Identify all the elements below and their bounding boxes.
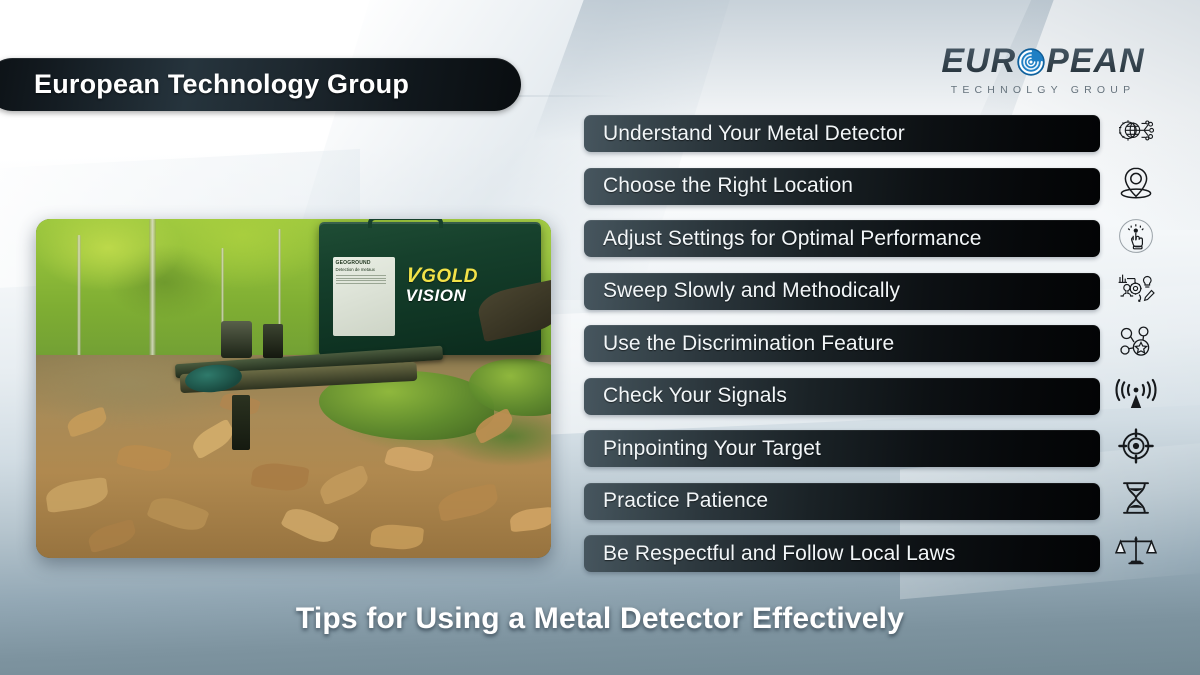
photo-case-handle	[368, 219, 443, 228]
photo-case-label-title: GEOGROUND	[336, 260, 392, 268]
slide-canvas: European Technology Group EUR PEAN TECHN…	[0, 0, 1200, 675]
company-logo: EUR PEAN TECHNOLGY GROUP	[918, 44, 1168, 96]
slide-headline: Tips for Using a Metal Detector Effectiv…	[0, 602, 1200, 636]
tip-row[interactable]: Pinpointing Your Target	[584, 430, 1100, 467]
logo-word-before: EUR	[941, 44, 1016, 78]
signal-broadcast-antenna-icon	[1108, 375, 1164, 412]
strategy-planning-icon	[1108, 270, 1164, 307]
tip-label: Be Respectful and Follow Local Laws	[603, 542, 956, 566]
photo-detector-stand	[232, 395, 250, 449]
metal-detector-photo: GEOGROUND Detection de metaux VGOLD VISI…	[36, 219, 551, 558]
globe-swirl-icon	[1017, 48, 1045, 76]
hand-tap-settings-icon	[1108, 217, 1164, 254]
logo-subtitle: TECHNOLGY GROUP	[918, 84, 1168, 96]
node-network-star-icon	[1108, 322, 1164, 359]
tip-row[interactable]: Understand Your Metal Detector	[584, 115, 1100, 152]
hourglass-icon	[1108, 480, 1164, 517]
gear-globe-network-icon	[1108, 112, 1164, 149]
photo-case-brand-line1: GOLD	[421, 266, 478, 287]
scales-of-justice-icon	[1108, 532, 1164, 569]
tips-list: Understand Your Metal Detector Choose th…	[584, 115, 1100, 588]
tip-label: Check Your Signals	[603, 384, 787, 408]
brand-title-text: European Technology Group	[34, 69, 409, 100]
crosshair-target-icon	[1108, 427, 1164, 464]
tip-row[interactable]: Check Your Signals	[584, 378, 1100, 415]
map-pin-location-icon	[1108, 165, 1164, 202]
tip-label: Choose the Right Location	[603, 174, 853, 198]
tip-label: Pinpointing Your Target	[603, 437, 821, 461]
tip-label: Use the Discrimination Feature	[603, 332, 894, 356]
tip-row[interactable]: Practice Patience	[584, 483, 1100, 520]
logo-word-after: PEAN	[1046, 44, 1144, 78]
tip-label: Sweep Slowly and Methodically	[603, 279, 900, 303]
tip-row[interactable]: Be Respectful and Follow Local Laws	[584, 535, 1100, 572]
tips-icon-column	[1108, 112, 1164, 585]
tip-label: Practice Patience	[603, 489, 768, 513]
photo-case-label: GEOGROUND Detection de metaux	[333, 257, 395, 336]
tip-row[interactable]: Use the Discrimination Feature	[584, 325, 1100, 362]
photo-case-label-sub: Detection de metaux	[336, 267, 392, 273]
tip-row[interactable]: Sweep Slowly and Methodically	[584, 273, 1100, 310]
photo-detector-grip	[263, 324, 284, 358]
brand-title-bar: European Technology Group	[0, 58, 521, 111]
photo-detector-control-box	[221, 321, 252, 358]
tip-label: Understand Your Metal Detector	[603, 122, 905, 146]
tip-label: Adjust Settings for Optimal Performance	[603, 227, 982, 251]
logo-wordmark: EUR PEAN	[918, 44, 1168, 78]
photo-case-brand-mark: V	[404, 265, 422, 286]
tip-row[interactable]: Choose the Right Location	[584, 168, 1100, 205]
tip-row[interactable]: Adjust Settings for Optimal Performance	[584, 220, 1100, 257]
